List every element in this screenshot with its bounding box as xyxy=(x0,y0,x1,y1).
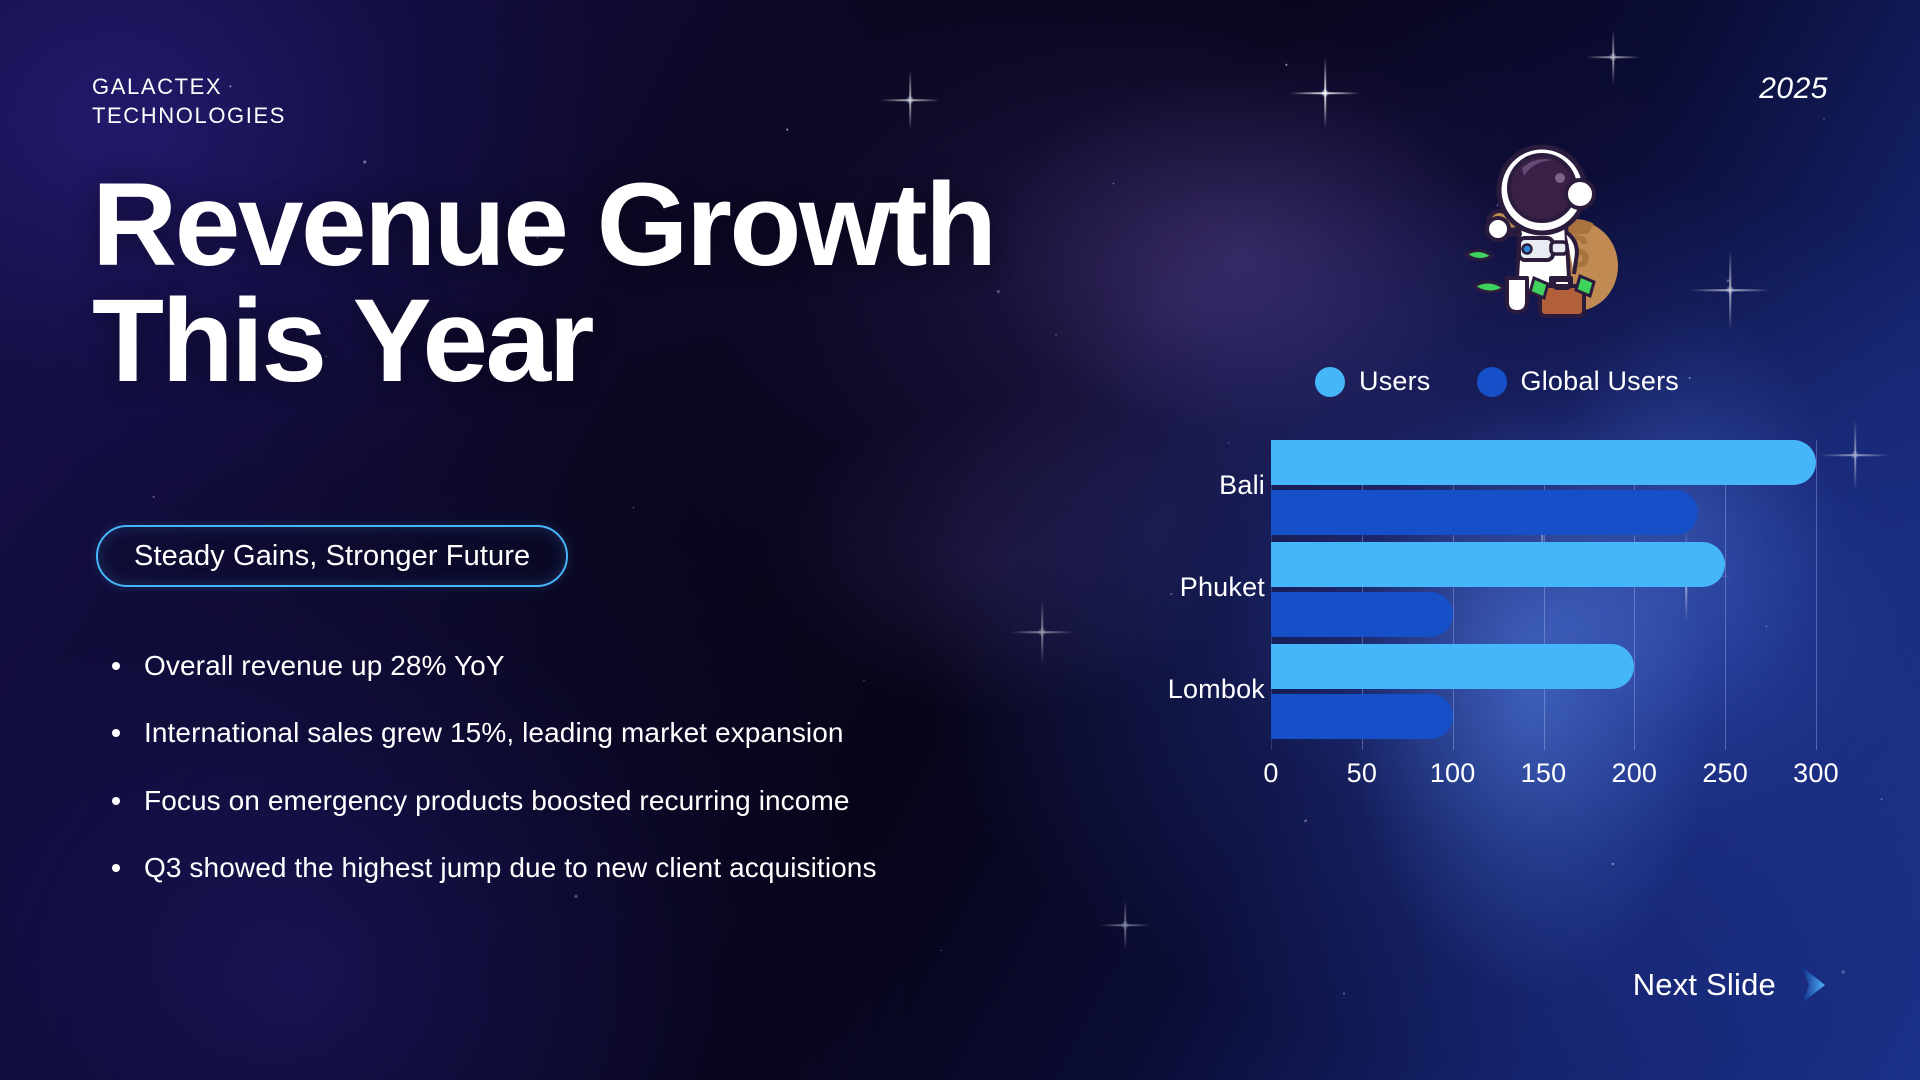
list-item-label: International sales grew 15%, leading ma… xyxy=(144,717,844,748)
tagline-badge-label: Steady Gains, Stronger Future xyxy=(134,540,530,573)
slide-year: 2025 xyxy=(1759,72,1828,106)
chart-plot-area xyxy=(1271,440,1816,750)
bullet-dot-icon xyxy=(112,662,120,670)
chart-bar xyxy=(1271,542,1725,587)
chart-bar xyxy=(1271,694,1453,739)
key-points-list: Overall revenue up 28% YoY International… xyxy=(108,650,877,883)
list-item: Overall revenue up 28% YoY xyxy=(108,650,877,681)
page-title: Revenue Growth This Year xyxy=(92,168,995,399)
legend-label-users: Users xyxy=(1359,366,1431,397)
presentation-slide: GALACTEX TECHNOLOGIES 2025 Revenue Growt… xyxy=(0,0,1920,1080)
chart-category-label: Phuket xyxy=(1120,572,1265,603)
sparkle-star-icon xyxy=(880,70,940,130)
bullet-dot-icon xyxy=(112,864,120,872)
chart-category-label: Bali xyxy=(1120,470,1265,501)
next-slide-label: Next Slide xyxy=(1633,967,1776,1003)
sparkle-star-icon xyxy=(1290,58,1360,128)
legend-item-users[interactable]: Users xyxy=(1315,366,1431,397)
astronaut-with-money-bag-icon: $ xyxy=(1424,128,1644,328)
chart-bar xyxy=(1271,644,1634,689)
legend-swatch-global-users xyxy=(1477,367,1507,397)
brand-line-2: TECHNOLOGIES xyxy=(92,101,286,130)
chart-x-tick-label: 0 xyxy=(1263,758,1278,789)
chart-gridline xyxy=(1634,440,1635,750)
chart-bar xyxy=(1271,592,1453,637)
chevron-right-icon[interactable] xyxy=(1792,962,1838,1008)
sparkle-star-icon xyxy=(1586,30,1640,84)
bullet-dot-icon xyxy=(112,797,120,805)
chart-bar xyxy=(1271,490,1698,535)
list-item-label: Q3 showed the highest jump due to new cl… xyxy=(144,852,877,883)
chart-x-tick-label: 200 xyxy=(1612,758,1658,789)
sparkle-star-icon xyxy=(1010,600,1074,664)
legend-swatch-users xyxy=(1315,367,1345,397)
brand-line-1: GALACTEX xyxy=(92,72,286,101)
chart-category-label: Lombok xyxy=(1120,674,1265,705)
chart-gridline xyxy=(1725,440,1726,750)
chart-gridline xyxy=(1544,440,1545,750)
list-item: Focus on emergency products boosted recu… xyxy=(108,785,877,816)
page-title-line-1: Revenue Growth xyxy=(92,168,995,284)
chart-bar xyxy=(1271,440,1816,485)
sparkle-star-icon xyxy=(1690,250,1770,330)
bullet-dot-icon xyxy=(112,729,120,737)
list-item-label: Overall revenue up 28% YoY xyxy=(144,650,505,681)
legend-label-global-users: Global Users xyxy=(1521,366,1679,397)
chart-x-tick-label: 50 xyxy=(1347,758,1377,789)
list-item: International sales grew 15%, leading ma… xyxy=(108,717,877,748)
brand-logo: GALACTEX TECHNOLOGIES xyxy=(92,72,286,130)
list-item-label: Focus on emergency products boosted recu… xyxy=(144,785,850,816)
sparkle-star-icon xyxy=(1100,900,1150,950)
list-item: Q3 showed the highest jump due to new cl… xyxy=(108,852,877,883)
chart-gridline xyxy=(1453,440,1454,750)
chart-gridline xyxy=(1816,440,1817,750)
legend-item-global-users[interactable]: Global Users xyxy=(1477,366,1679,397)
chart-x-tick-label: 300 xyxy=(1793,758,1839,789)
tagline-badge[interactable]: Steady Gains, Stronger Future xyxy=(96,525,568,587)
users-bar-chart: BaliPhuketLombok 050100150200250300 xyxy=(1120,440,1880,690)
chart-legend: Users Global Users xyxy=(1315,366,1679,397)
chart-x-tick-label: 100 xyxy=(1430,758,1476,789)
next-slide-button[interactable]: Next Slide xyxy=(1633,962,1838,1008)
chart-x-tick-label: 150 xyxy=(1521,758,1567,789)
chart-x-tick-label: 250 xyxy=(1702,758,1748,789)
page-title-line-2: This Year xyxy=(92,284,995,400)
